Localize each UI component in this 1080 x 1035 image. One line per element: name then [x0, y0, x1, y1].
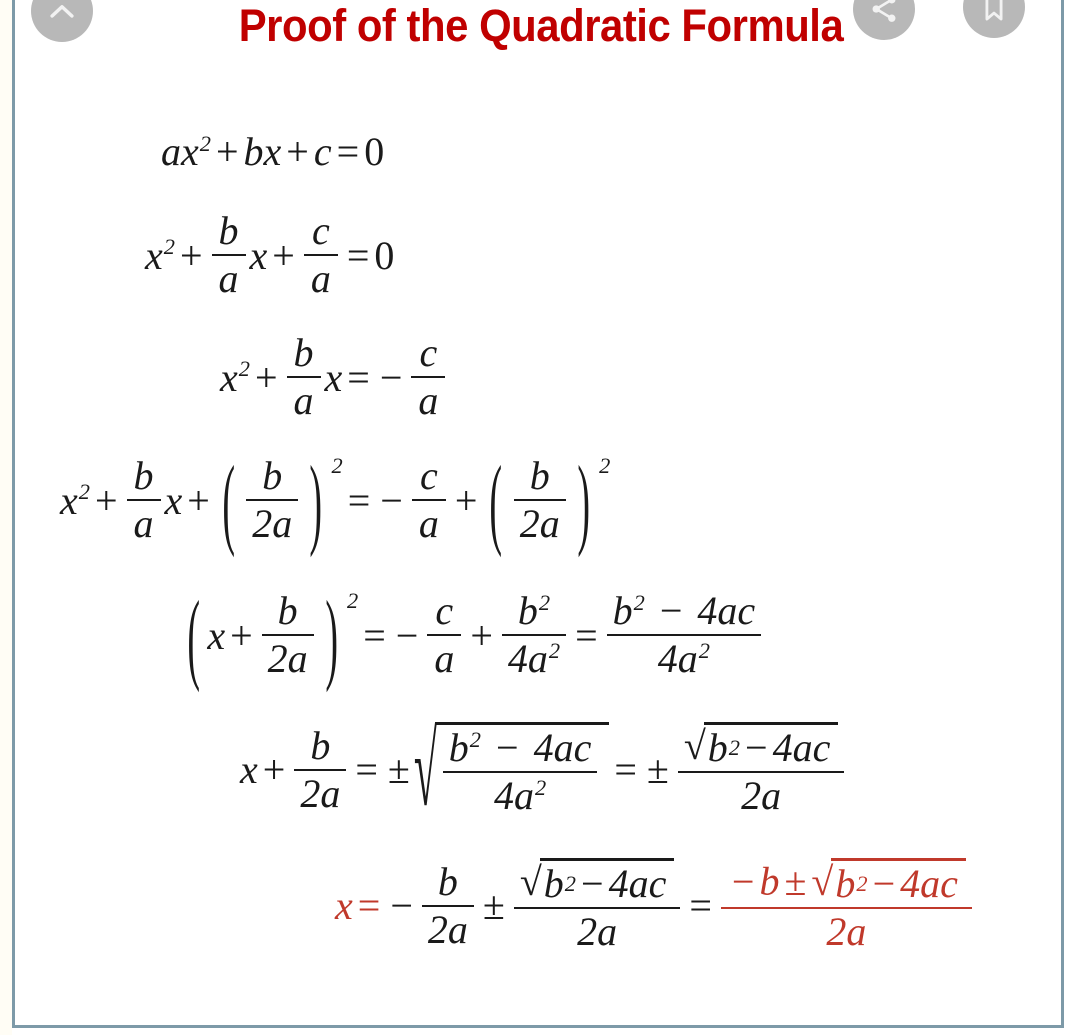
eq6-plus-minus-1: ±: [383, 746, 415, 793]
equation-step-6: x + b 2a = ± √ b2 − 4ac 4a2: [240, 722, 848, 817]
eq6-fraction-b-over-2a: b 2a: [294, 725, 346, 815]
eq5-fraction-discriminant-over-4a2: b2 − 4ac 4a2: [607, 590, 762, 680]
eq2-fraction-b-over-a: b a: [212, 210, 246, 300]
eq4-paren-exponent-right: 2: [599, 453, 610, 479]
eq4-var-x: x: [165, 477, 183, 524]
eq1-term-ax2: ax2: [161, 128, 211, 175]
eq7-minus: −: [385, 882, 418, 929]
eq1-exponent: 2: [200, 131, 211, 156]
paren-right-glyph: ): [325, 520, 338, 750]
eq4-fraction-b-over-2a-right: b 2a: [514, 455, 566, 545]
eq2-fraction-c-over-a: c a: [304, 210, 338, 300]
eq6-sqrt-of-fraction: √ b2 − 4ac 4a2: [415, 722, 609, 817]
eq3-equals: =: [342, 354, 375, 401]
equation-step-1: ax2 + bx + c = 0: [161, 128, 384, 175]
eq6-plus-minus-2: ±: [642, 746, 674, 793]
paren-left-glyph: (: [187, 520, 200, 750]
bookmark-icon: [977, 0, 1011, 24]
eq7-plus-minus: ±: [478, 882, 510, 929]
eq4-fraction-b-over-a: b a: [127, 455, 161, 545]
screenshot-root: Proof of the Quadratic Formula ax2 + bx …: [0, 0, 1080, 1035]
eq5-var-x: x: [207, 612, 225, 659]
eq4-fraction-c-over-a: c a: [412, 455, 446, 545]
eq2-zero: 0: [374, 232, 394, 279]
eq3-var-x: x: [325, 354, 343, 401]
eq4-paren-group-left: ( b 2a ) 2: [215, 455, 343, 545]
eq6-fraction-inside-sqrt: b2 − 4ac 4a2: [443, 727, 598, 817]
radical-icon: √: [684, 722, 706, 769]
document-frame: Proof of the Quadratic Formula ax2 + bx …: [12, 0, 1064, 1028]
eq7-equals-2: =: [684, 882, 717, 929]
eq2-var-x: x: [250, 232, 268, 279]
eq2-x-squared: x2: [145, 232, 175, 279]
eq5-plus-2: +: [465, 612, 498, 659]
chevron-up-icon: [45, 0, 79, 28]
eq3-minus: −: [375, 354, 408, 401]
eq5-fraction-b-over-2a: b 2a: [262, 590, 314, 680]
eq1-plus-2: +: [281, 128, 314, 175]
equation-step-5: ( x + b 2a ) 2 = − c: [180, 590, 765, 680]
eq4-plus-1: +: [90, 477, 123, 524]
eq7-final-quadratic-formula: −b± √ b2 − 4ac 2a: [721, 858, 972, 953]
eq4-minus: −: [375, 477, 408, 524]
eq2-equals: =: [342, 232, 375, 279]
eq4-equals: =: [343, 477, 376, 524]
paren-left-glyph: (: [222, 385, 235, 615]
eq5-equals-1: =: [358, 612, 391, 659]
eq1-term-c: c: [314, 128, 332, 175]
eq3-plus: +: [250, 354, 283, 401]
radical-icon: √: [520, 858, 542, 905]
eq1-term-bx: bx: [244, 128, 282, 175]
eq5-equals-2: =: [570, 612, 603, 659]
eq7-sqrt-discriminant: √ b2 − 4ac: [520, 858, 674, 905]
equation-step-7-result: x = − b 2a ± √ b2 − 4ac: [335, 858, 976, 953]
equation-list: ax2 + bx + c = 0 x2 + b a x +: [15, 100, 1067, 1000]
eq7-final-sqrt: √ b2 − 4ac: [811, 858, 965, 905]
radical-icon: √: [811, 858, 833, 905]
eq6-equals-2: =: [609, 746, 642, 793]
eq5-fraction-b2-over-4a2: b2 4a2: [502, 590, 566, 680]
eq1-var-x: x: [181, 129, 199, 174]
eq5-paren-exponent: 2: [347, 588, 358, 614]
eq2-plus-2: +: [267, 232, 300, 279]
radical-icon: √: [414, 646, 437, 893]
eq1-equals: =: [332, 128, 365, 175]
eq4-paren-group-right: ( b 2a ) 2: [482, 455, 610, 545]
page-left-gutter: [0, 0, 12, 1035]
eq2-plus-1: +: [175, 232, 208, 279]
paren-right-glyph: ): [310, 385, 323, 615]
eq5-paren-group: ( x + b 2a ) 2: [180, 590, 358, 680]
eq6-equals-1: =: [350, 746, 383, 793]
eq5-plus-1: +: [225, 612, 258, 659]
eq6-var-x: x: [240, 746, 258, 793]
paren-right-glyph: ): [577, 385, 590, 615]
eq6-plus: +: [258, 746, 291, 793]
eq1-plus-1: +: [211, 128, 244, 175]
eq3-fraction-c-over-a: c a: [411, 332, 445, 422]
eq4-paren-exponent-left: 2: [332, 453, 343, 479]
eq4-plus-2: +: [182, 477, 215, 524]
eq4-fraction-b-over-2a-left: b 2a: [246, 455, 298, 545]
eq7-var-x: x: [335, 882, 353, 929]
eq6-fraction-sqrt-over-2a: √ b2 − 4ac 2a: [678, 722, 844, 817]
eq7-equals-1: =: [353, 882, 386, 929]
eq7-fraction-b-over-2a: b 2a: [422, 861, 474, 951]
paren-left-glyph: (: [490, 385, 503, 615]
eq1-zero: 0: [364, 128, 384, 175]
equation-step-3: x2 + b a x = − c a: [220, 332, 449, 422]
eq6-sqrt-discriminant: √ b2 − 4ac: [684, 722, 838, 769]
eq7-fraction-sqrt-over-2a: √ b2 − 4ac 2a: [514, 858, 680, 953]
equation-step-2: x2 + b a x + c a = 0: [145, 210, 394, 300]
eq4-x-squared: x2: [60, 477, 90, 524]
share-icon: [867, 0, 901, 26]
eq4-plus-3: +: [450, 477, 483, 524]
